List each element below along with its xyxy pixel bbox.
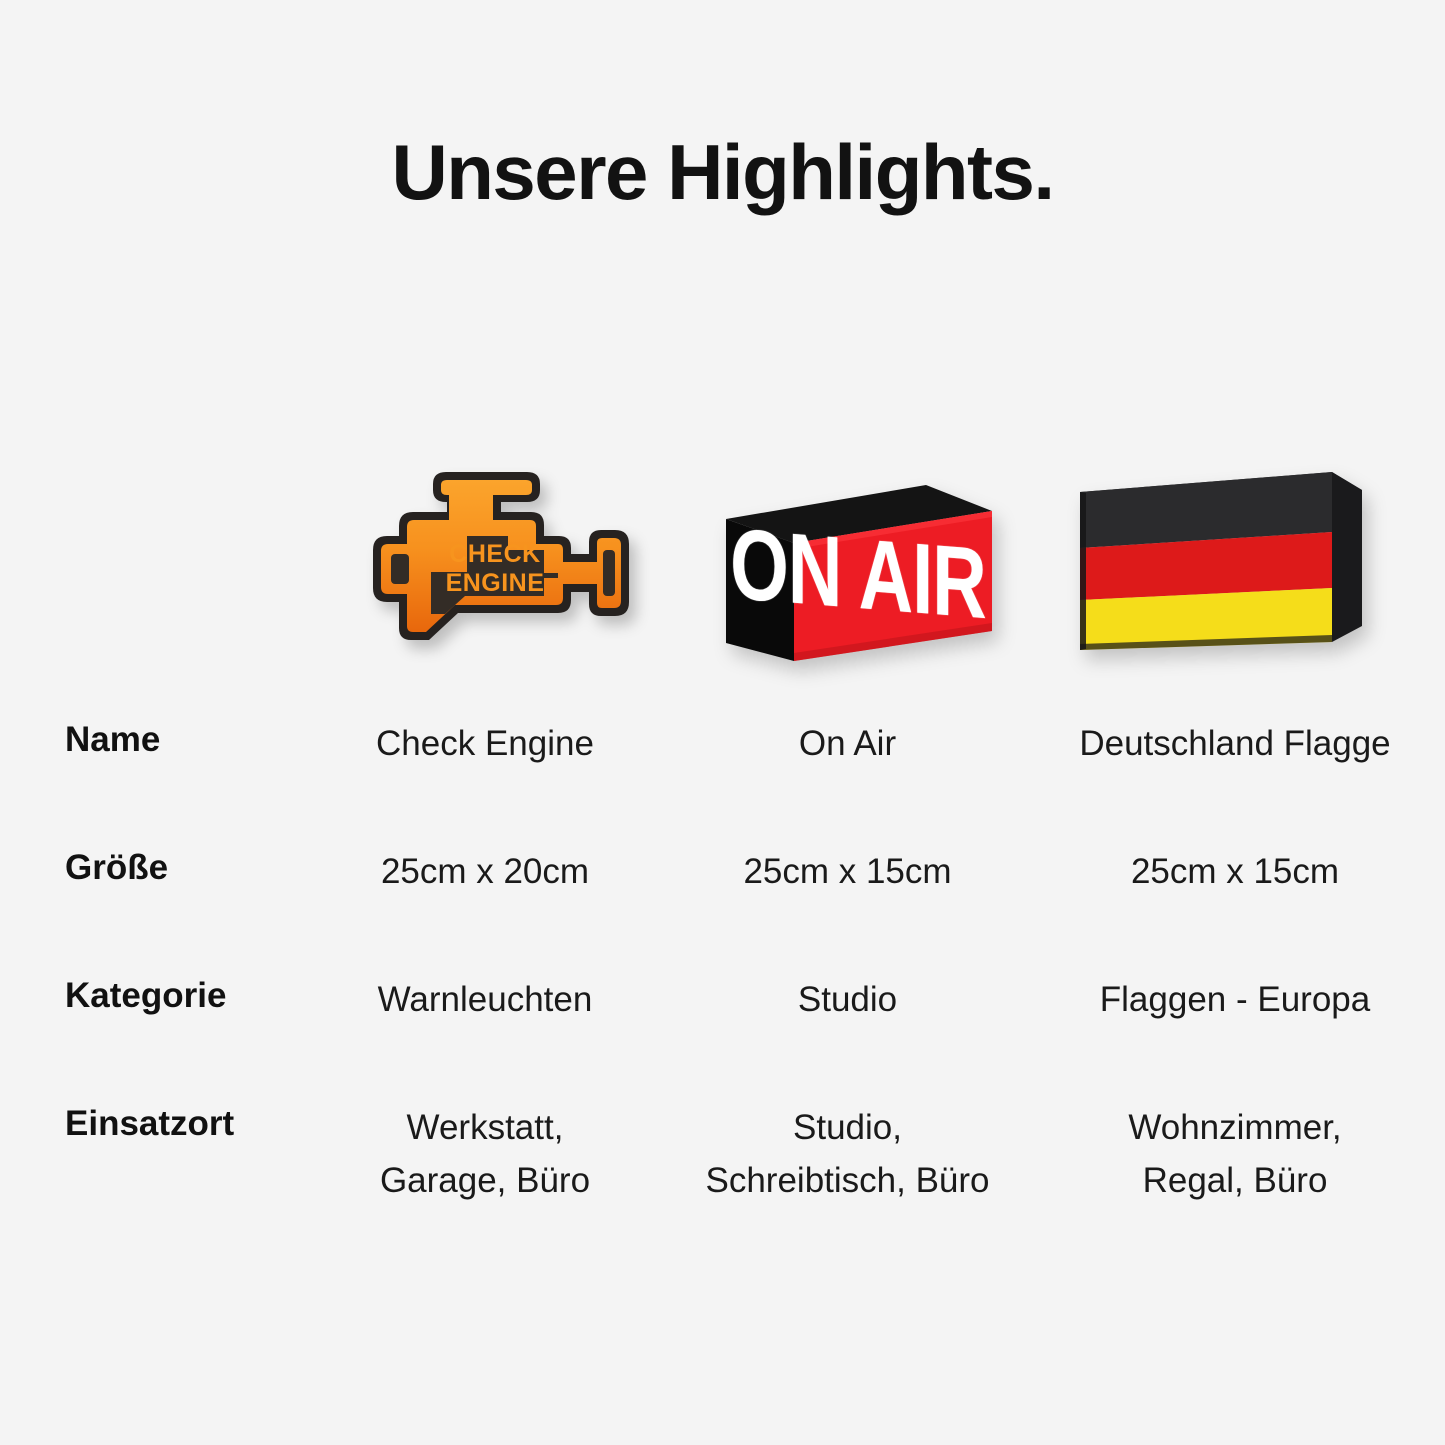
highlights-infographic: Unsere Highlights. [0,0,1445,1445]
cell-name-on-air: On Air [670,690,1025,771]
cell-kategorie-deutschland-flagge: Flaggen - Europa [1025,946,1445,1027]
cell-einsatzort-check-engine: Werkstatt, Garage, Büro [300,1074,670,1207]
on-air-lightbox-icon: ON AIR [690,475,1000,670]
check-engine-svg: CHECK ENGINE [345,450,645,670]
cell-groesse-check-engine: 25cm x 20cm [300,818,670,899]
cell-kategorie-on-air: Studio [670,946,1025,1027]
product-image-deutschland-flagge[interactable] [1020,415,1420,670]
on-air-box-svg [690,475,1000,670]
cell-kategorie-check-engine: Warnleuchten [300,946,670,1027]
cell-groesse-deutschland-flagge: 25cm x 15cm [1025,818,1445,899]
table-row-groesse: Größe 25cm x 20cm 25cm x 15cm 25cm x 15c… [0,818,1445,946]
cell-name-check-engine: Check Engine [300,690,670,771]
table-row-einsatzort: Einsatzort Werkstatt, Garage, Büro Studi… [0,1074,1445,1224]
product-image-check-engine[interactable]: CHECK ENGINE [300,415,690,670]
cell-groesse-on-air: 25cm x 15cm [670,818,1025,899]
product-image-row: CHECK ENGINE [0,415,1445,670]
row-label-kategorie: Kategorie [0,946,300,1019]
product-image-on-air[interactable]: ON AIR [660,415,1030,670]
germany-flag-box-svg [1060,460,1380,670]
cell-einsatzort-on-air: Studio, Schreibtisch, Büro [670,1074,1025,1207]
row-label-einsatzort: Einsatzort [0,1074,300,1147]
page-title: Unsere Highlights. [0,132,1445,214]
table-row-name: Name Check Engine On Air Deutschland Fla… [0,690,1445,818]
row-label-name: Name [0,690,300,763]
germany-flag-lightbox-icon [1060,460,1380,670]
row-label-groesse: Größe [0,818,300,891]
cell-name-deutschland-flagge: Deutschland Flagge [1025,690,1445,771]
check-engine-text-line1: CHECK [449,540,540,568]
check-engine-text-line2: ENGINE [446,569,545,597]
cell-einsatzort-deutschland-flagge: Wohnzimmer, Regal, Büro [1025,1074,1445,1207]
spec-comparison-table: Name Check Engine On Air Deutschland Fla… [0,690,1445,1224]
table-row-kategorie: Kategorie Warnleuchten Studio Flaggen - … [0,946,1445,1074]
check-engine-lamp-icon: CHECK ENGINE [345,450,645,670]
